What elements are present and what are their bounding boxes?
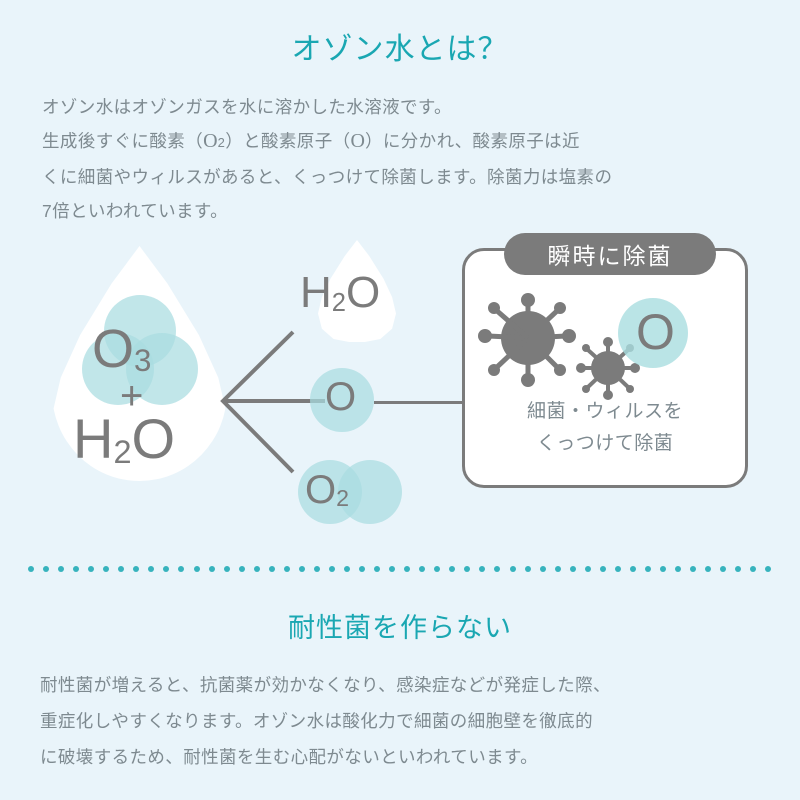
- inline-o-formula: O: [351, 130, 365, 152]
- section-two-paragraph: 耐性菌が増えると、抗菌薬が効かなくなり、感染症などが発症した際、 重症化しやすく…: [0, 645, 800, 775]
- section-ozone-water: オゾン水とは？ オゾン水はオゾンガスを水に溶かした水溶液です。 生成後すぐに酸素…: [0, 0, 800, 568]
- panel-caption-line-1: 細菌・ウィルスを: [462, 396, 748, 428]
- section-resistant-bacteria: 耐性菌を作らない 耐性菌が増えると、抗菌薬が効かなくなり、感染症などが発症した際…: [0, 588, 800, 775]
- intro-line-3: くに細菌やウィルスがあると、くっつけて除菌します。除菌力は塩素の: [42, 160, 758, 194]
- formula-o3: O3: [92, 318, 151, 380]
- formula-o3-subscript: 3: [134, 343, 151, 378]
- intro-line-2-part2: ）と酸素原子（: [225, 131, 350, 151]
- reaction-diagram: O3 + H2O H2O O O2 瞬時に除菌: [0, 228, 800, 548]
- formula-h2o-source: H2O: [73, 406, 175, 471]
- intro-line-2: 生成後すぐに酸素（O2）と酸素原子（O）に分かれ、酸素原子は近: [42, 124, 758, 160]
- formula-h2o-product: H2O: [300, 268, 380, 318]
- intro-line-2-part1: 生成後すぐに酸素（: [42, 131, 203, 151]
- formula-o2-product: O2: [305, 468, 349, 513]
- intro-line-1: オゾン水はオゾンガスを水に溶かした水溶液です。: [42, 90, 758, 124]
- section-two-title: 耐性菌を作らない: [0, 588, 800, 645]
- section-two-line-3: に破壊するため、耐性菌を生む心配がないといわれています。: [40, 739, 760, 775]
- panel-connector-line: [374, 401, 474, 404]
- formula-o2-product-subscript: 2: [336, 485, 349, 511]
- dotted-divider: [0, 566, 800, 578]
- inline-o2-formula: O: [203, 130, 217, 152]
- formula-h2o-product-subscript: 2: [332, 289, 346, 317]
- panel-header-tab: 瞬時に除菌: [504, 233, 716, 275]
- page-title: オゾン水とは？: [0, 0, 800, 68]
- section-two-line-1: 耐性菌が増えると、抗菌薬が効かなくなり、感染症などが発症した際、: [40, 667, 760, 703]
- panel-caption: 細菌・ウィルスを くっつけて除菌: [462, 396, 748, 460]
- intro-line-2-part3: ）に分かれ、酸素原子は近: [365, 131, 580, 151]
- intro-line-4: 7倍といわれています。: [42, 194, 758, 228]
- section-two-line-2: 重症化しやすくなります。オゾン水は酸化力で細菌の細胞壁を徹底的: [40, 703, 760, 739]
- intro-paragraph: オゾン水はオゾンガスを水に溶かした水溶液です。 生成後すぐに酸素（O2）と酸素原…: [0, 68, 800, 228]
- panel-caption-line-2: くっつけて除菌: [462, 428, 748, 460]
- formula-o-product: O: [325, 375, 356, 420]
- panel-oxygen-label: O: [636, 303, 675, 361]
- germ-icons-group: O: [470, 290, 740, 390]
- formula-h2o-source-subscript: 2: [113, 434, 131, 470]
